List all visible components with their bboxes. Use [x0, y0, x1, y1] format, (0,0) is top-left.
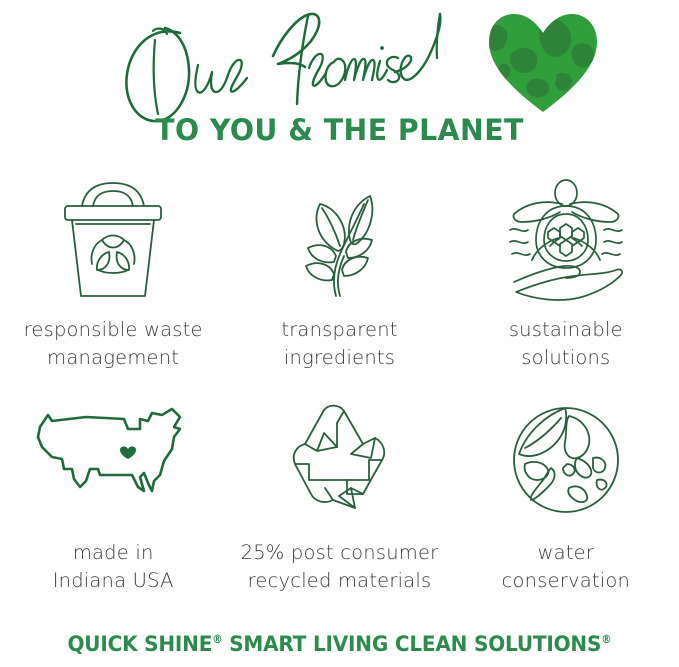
subtitle-to-you-and-the-planet: TO YOU & THE PLANET [14, 113, 666, 147]
globe-leaf-svg [507, 402, 625, 516]
recycling-arrows-icon [274, 401, 404, 517]
promise-item-made-in-indiana: made in Indiana USA [0, 401, 226, 594]
promise-item-responsible-waste: responsible waste management [0, 178, 226, 371]
earth-heart-svg [483, 8, 603, 116]
caption-line-1: made in [73, 541, 154, 564]
header: TO YOU & THE PLANET [0, 0, 679, 175]
script-title-svg [95, 2, 515, 117]
footer: QUICK SHINE® SMART LIVING CLEAN SOLUTION… [0, 632, 679, 657]
caption-line-1: 25% post consumer [241, 541, 439, 564]
promise-caption: made in Indiana USA [53, 539, 174, 594]
caption-line-1: responsible waste [24, 318, 203, 341]
turtle-hand-svg [502, 178, 630, 302]
promise-item-water-conservation: water conservation [453, 401, 679, 594]
trash-bin-svg [52, 178, 174, 302]
caption-line-1: water [538, 541, 595, 564]
earth-heart-icon [483, 8, 603, 116]
caption-line-2: ingredients [284, 346, 395, 369]
registered-mark-icon: ® [601, 633, 611, 646]
leaf-sprig-icon [274, 178, 404, 302]
promise-item-recycled-materials: 25% post consumer recycled materials [226, 401, 452, 594]
caption-line-2: recycled materials [248, 569, 432, 592]
usa-map-svg [28, 407, 198, 511]
script-title-our-promise [95, 2, 515, 117]
promise-caption: sustainable solutions [509, 316, 623, 371]
caption-line-2: management [47, 346, 179, 369]
leaf-sprig-svg [278, 178, 400, 302]
caption-line-1: transparent [281, 318, 397, 341]
hand-holding-turtle-icon [501, 178, 631, 302]
footer-brand-line: QUICK SHINE® SMART LIVING CLEAN SOLUTION… [68, 632, 612, 657]
globe-leaf-icon [501, 401, 631, 517]
promise-caption: 25% post consumer recycled materials [241, 539, 439, 594]
promise-row-2: made in Indiana USA [0, 401, 679, 594]
footer-tagline: SMART LIVING CLEAN SOLUTIONS [222, 632, 601, 657]
promise-caption: responsible waste management [24, 316, 203, 371]
registered-mark-icon: ® [212, 633, 222, 646]
recycling-svg [277, 402, 401, 516]
promise-row-1: responsible waste management [0, 178, 679, 371]
caption-line-1: sustainable [509, 318, 623, 341]
promise-item-sustainable-solutions: sustainable solutions [453, 178, 679, 371]
caption-line-2: solutions [521, 346, 610, 369]
trash-bin-recycle-icon [48, 178, 178, 302]
footer-brand: QUICK SHINE [68, 632, 213, 657]
caption-line-2: Indiana USA [53, 569, 174, 592]
caption-line-2: conservation [502, 569, 630, 592]
promise-caption: water conservation [502, 539, 630, 594]
indiana-heart-marker [120, 447, 136, 460]
promise-grid: responsible waste management [0, 178, 679, 595]
promise-caption: transparent ingredients [281, 316, 397, 371]
promise-item-transparent-ingredients: transparent ingredients [226, 178, 452, 371]
our-promise-graphic: TO YOU & THE PLANET [0, 0, 679, 667]
usa-map-heart-icon [48, 401, 178, 517]
